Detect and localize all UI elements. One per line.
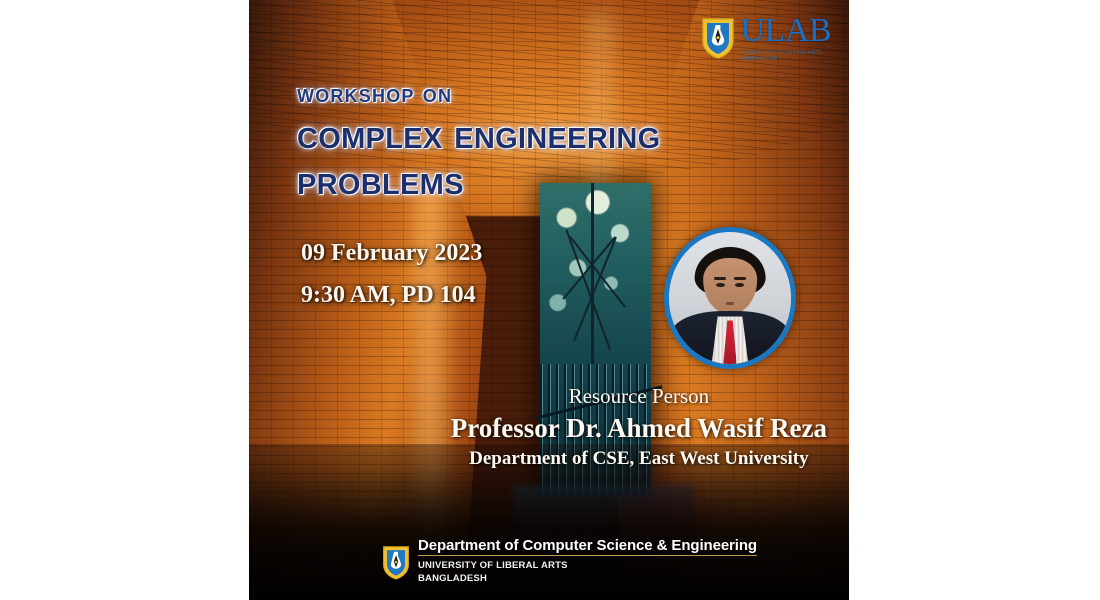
speaker-label: Resource Person: [451, 384, 827, 408]
event-time-venue: 9:30 AM, PD 104: [301, 274, 482, 316]
ulab-wordmark: ULAB: [740, 14, 831, 48]
ulab-tagline: UNIVERSITY OF LIBERAL ARTS BANGLADESH: [740, 50, 831, 63]
event-date: 09 February 2023: [301, 232, 482, 274]
speaker-name: Professor Dr. Ahmed Wasif Reza: [451, 413, 827, 444]
footer-university-line1: UNIVERSITY OF LIBERAL ARTS: [418, 560, 568, 571]
ulab-tagline-line1: UNIVERSITY OF LIBERAL ARTS: [740, 50, 822, 56]
doorway-foliage: [540, 183, 651, 376]
footer-shield-flask-icon: [382, 545, 410, 580]
portrait-brow-right: [734, 277, 746, 280]
footer-university: UNIVERSITY OF LIBERAL ARTS BANGLADESH: [418, 560, 757, 586]
screenshot-canvas: ULAB UNIVERSITY OF LIBERAL ARTS BANGLADE…: [0, 0, 1100, 600]
ulab-shield-flask-icon: [701, 17, 735, 59]
ulab-wordmark-group: ULAB UNIVERSITY OF LIBERAL ARTS BANGLADE…: [740, 14, 831, 63]
footer-block: Department of Computer Science & Enginee…: [382, 538, 757, 586]
speaker-block: Resource Person Professor Dr. Ahmed Wasi…: [451, 384, 827, 470]
footer-department: Department of Computer Science & Enginee…: [418, 538, 757, 556]
footer-text-group: Department of Computer Science & Enginee…: [418, 538, 757, 586]
ulab-tagline-line2: BANGLADESH: [740, 56, 777, 62]
footer-university-line2: BANGLADESH: [418, 573, 487, 584]
headline-title-line1: Complex Engineering: [297, 112, 661, 158]
headline-block: Workshop on Complex Engineering Problems: [297, 80, 661, 204]
event-details-block: 09 February 2023 9:30 AM, PD 104: [301, 232, 482, 316]
event-poster: ULAB UNIVERSITY OF LIBERAL ARTS BANGLADE…: [249, 0, 849, 600]
headline-kicker: Workshop on: [297, 80, 661, 109]
portrait-mouth: [726, 302, 735, 305]
speaker-affiliation: Department of CSE, East West University: [451, 448, 827, 470]
speaker-portrait: [664, 227, 796, 369]
portrait-eye-left: [716, 283, 725, 287]
ulab-logo: ULAB UNIVERSITY OF LIBERAL ARTS BANGLADE…: [701, 14, 831, 63]
headline-title-line2: Problems: [297, 158, 661, 204]
portrait-brow-left: [714, 277, 726, 280]
portrait-eye-right: [735, 283, 744, 287]
